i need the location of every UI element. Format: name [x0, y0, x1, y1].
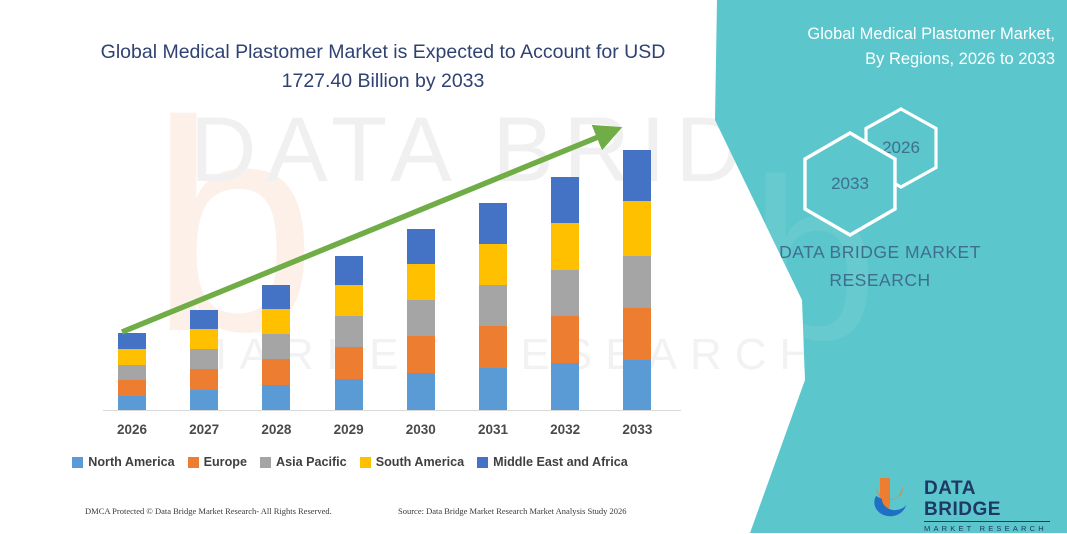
logo-title: DATA BRIDGE: [924, 478, 1054, 520]
legend-label: Middle East and Africa: [493, 455, 628, 469]
x-tick-2027: 2027: [174, 422, 234, 437]
right-panel-brand-line2: RESEARCH: [705, 266, 1055, 294]
right-panel-title: Global Medical Plastomer Market, By Regi…: [710, 22, 1055, 72]
hexagon-2033-label: 2033: [800, 130, 900, 238]
footer-copyright: DMCA Protected © Data Bridge Market Rese…: [85, 506, 332, 516]
legend-label: Asia Pacific: [276, 455, 347, 469]
legend-swatch: [477, 457, 488, 468]
infographic-canvas: b DATA BRIDGE MARKET RESEARCH Global Med…: [0, 0, 1067, 533]
logo-divider: [924, 521, 1050, 522]
x-tick-2028: 2028: [246, 422, 306, 437]
right-panel-title-line2: By Regions, 2026 to 2033: [710, 47, 1055, 72]
legend-item-asia-pacific[interactable]: Asia Pacific: [260, 455, 347, 469]
stacked-bar-chart: 20262027202820292030203120322033 North A…: [0, 0, 700, 533]
legend-item-south-america[interactable]: South America: [360, 455, 464, 469]
right-panel-title-line1: Global Medical Plastomer Market,: [710, 22, 1055, 47]
x-tick-2033: 2033: [607, 422, 667, 437]
legend-item-north-america[interactable]: North America: [72, 455, 174, 469]
x-tick-2026: 2026: [102, 422, 162, 437]
legend-swatch: [72, 457, 83, 468]
x-tick-2031: 2031: [463, 422, 523, 437]
legend-swatch: [260, 457, 271, 468]
legend-item-europe[interactable]: Europe: [188, 455, 247, 469]
footer-source: Source: Data Bridge Market Research Mark…: [398, 506, 627, 516]
logo-text: DATA BRIDGE MARKET RESEARCH: [924, 478, 1054, 534]
legend-label: Europe: [204, 455, 247, 469]
x-axis-labels: 20262027202820292030203120322033: [103, 422, 681, 444]
footer: DMCA Protected © Data Bridge Market Rese…: [0, 506, 700, 528]
right-panel-brand-line1: DATA BRIDGE MARKET: [705, 238, 1055, 266]
logo-b-mark-icon: [872, 476, 918, 520]
right-panel-brand: DATA BRIDGE MARKET RESEARCH: [705, 238, 1055, 294]
chart-legend: North AmericaEuropeAsia PacificSouth Ame…: [0, 455, 700, 469]
legend-swatch: [360, 457, 371, 468]
x-tick-2030: 2030: [391, 422, 451, 437]
data-bridge-logo: DATA BRIDGE MARKET RESEARCH: [872, 474, 1052, 522]
x-tick-2029: 2029: [319, 422, 379, 437]
hexagon-2033: 2033: [800, 130, 900, 238]
legend-label: North America: [88, 455, 174, 469]
right-panel: b Global Medical Plastomer Market, By Re…: [690, 0, 1067, 533]
x-tick-2032: 2032: [535, 422, 595, 437]
legend-swatch: [188, 457, 199, 468]
legend-item-middle-east-and-africa[interactable]: Middle East and Africa: [477, 455, 628, 469]
legend-label: South America: [376, 455, 464, 469]
growth-arrow-icon: [0, 0, 700, 533]
